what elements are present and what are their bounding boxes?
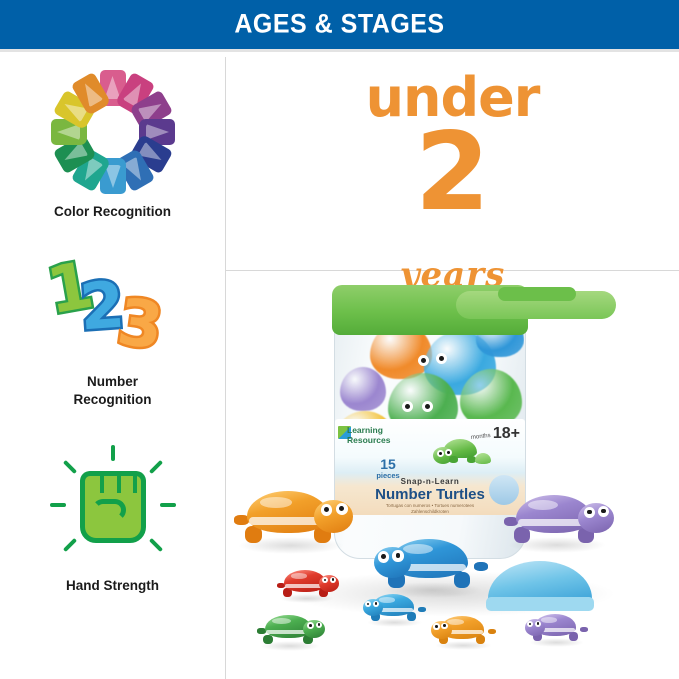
turtle-eye-right (598, 506, 609, 517)
turtle-shell-gloss (272, 618, 291, 624)
color-wheel-segment-highlight (60, 142, 88, 167)
label-turtle-eye-left (437, 450, 444, 457)
turtle-piece (502, 489, 612, 551)
turtle-tail (488, 629, 496, 634)
turtle-shell-piece-rim (486, 597, 594, 611)
brand-name: Learning Resources (347, 426, 390, 445)
header-rule (0, 49, 679, 52)
color-wheel-segment-highlight (57, 124, 80, 140)
fist-ray (111, 445, 115, 461)
turtle-eye-right (330, 577, 336, 583)
piece-count-value: 15 (365, 457, 411, 471)
turtle-shell-gloss (260, 497, 292, 508)
turtle-tail (474, 562, 488, 571)
jar-turtle-blob (340, 367, 386, 411)
jar-turtle-pupil (439, 356, 444, 361)
turtle-eye-right (373, 601, 379, 607)
fist-strength-icon (48, 445, 178, 569)
jar-lid-tab (498, 287, 576, 301)
age-block: under 2 years (226, 57, 679, 270)
color-wheel-icon (50, 69, 176, 195)
feature-color-recognition: Color Recognition (0, 69, 225, 221)
numbers-123-icon-wrap: 1 2 3 (0, 255, 225, 365)
fist-thumb (92, 499, 126, 521)
product-photo: Learning Resources months18+ 15 pieces S… (226, 271, 679, 679)
fist-ray (148, 538, 162, 552)
features-column: Color Recognition 1 2 3 Number Recogniti… (0, 55, 225, 679)
product-subtitle: Tortugas con numeros • Tortues numerotee… (335, 503, 525, 514)
label-turtle-baby (475, 453, 491, 464)
fist-strength-icon-wrap (0, 445, 225, 569)
product-subtitle-line2: Zahlenschildkroten (335, 509, 525, 515)
jar-lid (332, 285, 528, 335)
turtle-eye-left (307, 622, 314, 629)
jar-turtle-eye (436, 353, 447, 364)
turtle-piece (376, 533, 488, 596)
infographic-page: AGES & STAGES Color Recognition 1 2 3 Nu… (0, 0, 679, 679)
turtle-piece (276, 567, 338, 602)
color-wheel-icon-wrap (0, 69, 225, 195)
feature-caption-color: Color Recognition (0, 203, 225, 221)
feature-hand-strength: Hand Strength (0, 445, 225, 595)
fist-ray (148, 460, 162, 474)
jar-turtle-eye (418, 355, 429, 366)
label-turtle-leg (449, 456, 458, 463)
jar-turtle-pupil (405, 404, 410, 409)
product-label: Learning Resources months18+ 15 pieces S… (335, 419, 525, 515)
jar-turtle-pupil (421, 358, 426, 363)
turtle-head (303, 620, 325, 639)
turtle-head (578, 503, 614, 533)
turtle-eye-left (584, 507, 595, 518)
turtle-piece (432, 613, 496, 649)
turtle-eye-right (535, 621, 541, 627)
feature-number-recognition: 1 2 3 Number Recognition (0, 255, 225, 409)
feature-caption-number-line1: Number (0, 373, 225, 391)
turtle-tail (418, 607, 426, 612)
header-banner: AGES & STAGES (0, 0, 679, 49)
turtle-shell-gloss (528, 500, 558, 510)
feature-caption-number: Number Recognition (0, 373, 225, 409)
months-value: 18+ (493, 425, 520, 442)
fist-knuckle-line-2 (117, 473, 121, 493)
fist-ray (160, 503, 176, 507)
turtle-eye-right (392, 550, 403, 561)
turtle-eye-left (433, 623, 439, 629)
turtle-piece (256, 611, 324, 649)
turtle-shell-gloss (291, 573, 308, 579)
turtle-tail (580, 627, 588, 632)
fist-ray (50, 503, 66, 507)
turtle-piece (232, 485, 351, 552)
label-turtle-illustration (431, 437, 489, 473)
fist-knuckle-line-3 (133, 473, 137, 493)
turtle-eye-right (336, 503, 348, 515)
feature-caption-number-line2: Recognition (0, 391, 225, 409)
turtle-piece (364, 591, 426, 626)
turtle-piece (526, 611, 588, 646)
fist-knuckle-line-1 (100, 473, 104, 493)
label-turtle-eye-right (445, 449, 452, 456)
jar-turtle-pupil (425, 404, 430, 409)
page-title: AGES & STAGES (234, 9, 444, 40)
digit-three: 3 (113, 290, 166, 360)
fist-ray (62, 538, 76, 552)
jar-turtle-eye (422, 401, 433, 412)
age-number: 2 (226, 119, 679, 227)
brand-line-2: Resources (347, 436, 390, 446)
jar-turtle-eye (402, 401, 413, 412)
numbers-123-icon: 1 2 3 (38, 255, 188, 365)
feature-caption-hand: Hand Strength (0, 577, 225, 595)
fist-ray (62, 460, 76, 474)
color-wheel-segment-highlight (78, 80, 103, 108)
turtle-eye-left (378, 551, 389, 562)
turtle-eye-right (441, 623, 447, 629)
